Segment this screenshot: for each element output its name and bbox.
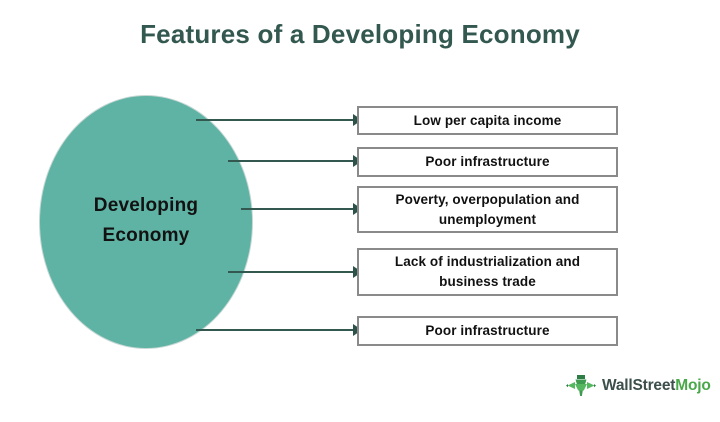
feature-text-line1: Poor infrastructure [425,154,549,169]
connector-arrow-4 [228,266,362,278]
connector-shaft-1 [196,119,353,121]
feature-text-line1: Poverty, overpopulation and [396,192,580,207]
feature-box-text: Poor infrastructure [425,321,549,341]
connector-arrow-5 [196,324,362,336]
diagram-canvas: Features of a Developing Economy Develop… [0,0,720,422]
wallstreetmojo-wordmark: WallStreetMojo [602,377,711,395]
feature-text-line1: Lack of industrialization and [395,254,580,269]
feature-box-poverty-overpopulation-unemployment: Poverty, overpopulation and unemployment [357,186,618,233]
logo-text-wallstreet: WallStreet [602,377,675,394]
feature-box-text: Low per capita income [414,111,562,131]
connector-arrow-2 [228,155,362,167]
logo-text-mojo: Mojo [675,377,710,394]
feature-text-line2: unemployment [396,210,580,230]
feature-box-poor-infrastructure-2: Poor infrastructure [357,316,618,346]
feature-box-text: Poverty, overpopulation and unemployment [396,190,580,230]
connector-shaft-5 [196,329,353,331]
central-node-label-line2: Economy [94,221,198,251]
central-node-label: Developing Economy [94,191,198,253]
connector-arrow-1 [196,114,362,126]
central-node-label-line1: Developing [94,195,198,216]
feature-box-lack-of-industrialization: Lack of industrialization and business t… [357,248,618,296]
wallstreetmojo-bull-icon [566,373,596,399]
feature-box-text: Lack of industrialization and business t… [395,252,580,292]
connector-arrow-3 [241,203,362,215]
feature-box-poor-infrastructure-1: Poor infrastructure [357,147,618,177]
connector-shaft-2 [228,160,353,162]
connector-shaft-4 [228,271,353,273]
connector-shaft-3 [241,208,353,210]
wallstreetmojo-logo: WallStreetMojo [566,372,711,400]
central-node-developing-economy: Developing Economy [40,96,252,348]
feature-text-line1: Low per capita income [414,113,562,128]
feature-box-low-per-capita-income: Low per capita income [357,106,618,135]
page-title: Features of a Developing Economy [0,18,720,50]
feature-text-line2: business trade [395,272,580,292]
feature-text-line1: Poor infrastructure [425,323,549,338]
feature-box-text: Poor infrastructure [425,152,549,172]
